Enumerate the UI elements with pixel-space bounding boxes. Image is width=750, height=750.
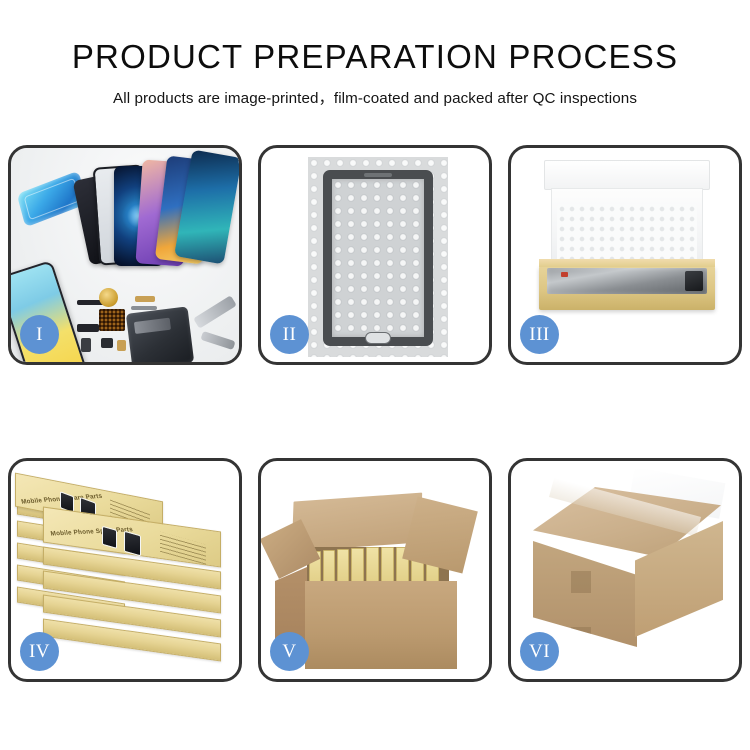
box-label: Mobile Phone Spare Parts [50,526,133,537]
step-badge: I [20,315,59,354]
process-step-1: I [8,145,242,365]
phone-print-icon [102,526,117,549]
process-step-2: II [258,145,492,365]
process-step-6: VI [508,458,742,682]
box-lid-icon [544,160,710,190]
label-sticker-icon [561,272,568,277]
earpiece-icon [364,173,392,177]
spare-part-icon [131,306,157,310]
home-button-icon [365,332,391,344]
step-badge: III [520,315,559,354]
process-step-4: Mobile Phone Spare Parts Mobile Phone Sp… [8,458,242,682]
spare-part-icon [77,324,99,332]
spare-part-icon [101,338,113,348]
carton-handle-tab [571,571,591,593]
carton-left-panel [533,541,637,647]
spare-part-icon [99,309,125,331]
step-badge: II [270,315,309,354]
page-title: PRODUCT PREPARATION PROCESS [0,38,750,76]
spare-part-icon [81,338,91,352]
header: PRODUCT PREPARATION PROCESS All products… [0,0,750,108]
spec-text-lines [160,532,206,565]
packed-screen-icon [547,268,707,294]
carton-handle-tab [571,627,591,649]
product-preparation-infographic: PRODUCT PREPARATION PROCESS All products… [0,0,750,750]
wrapped-phone-screen-icon [323,170,433,346]
carton-front-panel [305,581,457,669]
process-step-3: III [508,145,742,365]
spare-part-icon [99,288,118,307]
page-subtitle: All products are image-printed，film-coat… [0,86,750,108]
process-step-5: V [258,458,492,682]
spare-part-icon [135,296,155,302]
process-step-grid: I II III [8,145,742,682]
step-badge: IV [20,632,59,671]
logic-board-icon [126,306,194,362]
step-badge: V [270,632,309,671]
phone-print-icon [124,531,141,557]
spare-part-icon [117,340,126,351]
step-badge: VI [520,632,559,671]
